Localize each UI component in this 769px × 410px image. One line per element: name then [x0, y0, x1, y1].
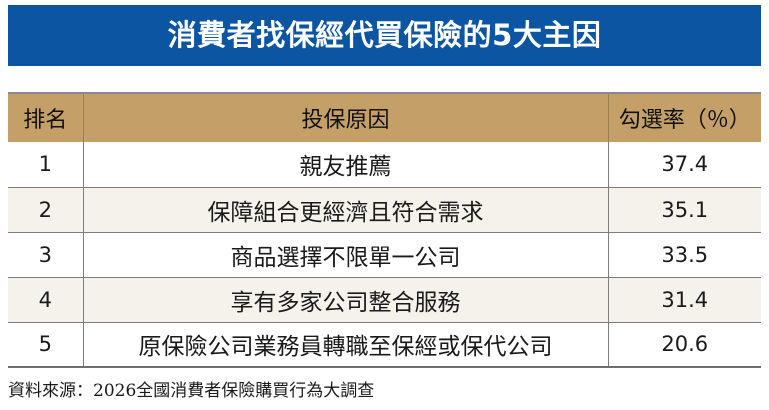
cell-reason: 商品選擇不限單一公司 [83, 232, 608, 277]
cell-rank: 3 [8, 232, 83, 277]
table-row: 4 享有多家公司整合服務 31.4 [8, 277, 761, 322]
table-row: 3 商品選擇不限單一公司 33.5 [8, 232, 761, 277]
column-header-rank: 排名 [8, 93, 83, 142]
cell-rate: 33.5 [608, 232, 761, 277]
cell-reason: 原保險公司業務員轉職至保經或保代公司 [83, 322, 608, 367]
cell-rank: 5 [8, 322, 83, 367]
table-row: 2 保障組合更經濟且符合需求 35.1 [8, 187, 761, 232]
cell-rank: 2 [8, 187, 83, 232]
table-header-row: 排名 投保原因 勾選率（％） [8, 93, 761, 142]
table-header: 排名 投保原因 勾選率（％） [8, 93, 761, 142]
title-banner: 消費者找保經代買保險的5大主因 [8, 5, 761, 66]
table-row: 5 原保險公司業務員轉職至保經或保代公司 20.6 [8, 322, 761, 367]
cell-rate: 31.4 [608, 277, 761, 322]
column-header-reason: 投保原因 [83, 93, 608, 142]
cell-rank: 1 [8, 142, 83, 187]
table-row: 1 親友推薦 37.4 [8, 142, 761, 187]
table-body: 1 親友推薦 37.4 2 保障組合更經濟且符合需求 35.1 3 商品選擇不限… [8, 142, 761, 367]
cell-rate: 20.6 [608, 322, 761, 367]
survey-results-table: 排名 投保原因 勾選率（％） 1 親友推薦 37.4 2 保障組合更經濟且符合需… [8, 92, 761, 368]
cell-rate: 37.4 [608, 142, 761, 187]
cell-reason: 保障組合更經濟且符合需求 [83, 187, 608, 232]
source-note: 資料來源：2026全國消費者保險購買行為大調查 [8, 376, 374, 401]
infographic-container: 消費者找保經代買保險的5大主因 排名 投保原因 勾選率（％） 1 親友推薦 37… [0, 0, 769, 410]
cell-reason: 親友推薦 [83, 142, 608, 187]
column-header-rate: 勾選率（％） [608, 93, 761, 142]
page-title: 消費者找保經代買保險的5大主因 [168, 21, 602, 50]
cell-reason: 享有多家公司整合服務 [83, 277, 608, 322]
cell-rate: 35.1 [608, 187, 761, 232]
cell-rank: 4 [8, 277, 83, 322]
